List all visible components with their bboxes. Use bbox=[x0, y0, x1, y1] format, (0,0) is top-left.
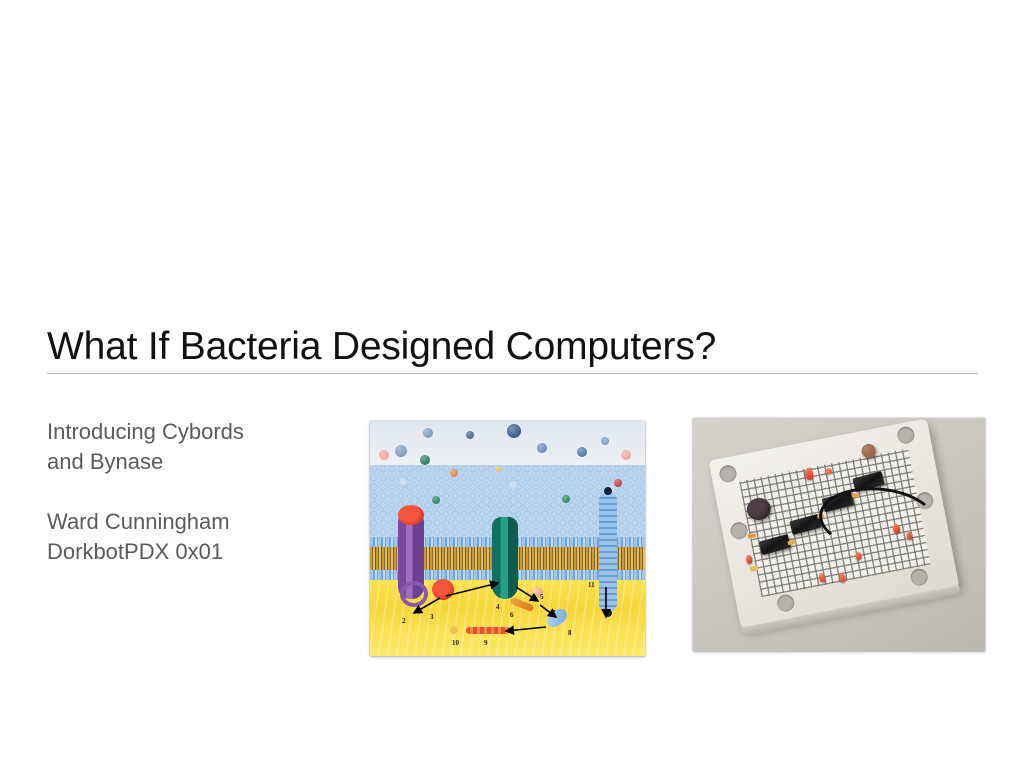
led bbox=[745, 554, 753, 564]
cell-membrane-illustration: 234567891011 bbox=[370, 421, 645, 656]
molecule-sphere bbox=[562, 495, 570, 503]
mounting-hole bbox=[909, 567, 929, 587]
molecule-sphere bbox=[420, 455, 430, 465]
callout-number: 2 bbox=[402, 617, 406, 625]
molecule-sphere bbox=[621, 450, 631, 460]
ion-channel-protein bbox=[599, 493, 617, 611]
callout-number: 7 bbox=[552, 609, 556, 617]
mounting-hole bbox=[776, 593, 796, 613]
molecule-sphere bbox=[432, 496, 440, 504]
molecule-sphere bbox=[537, 443, 547, 453]
small-molecule-dot bbox=[450, 626, 458, 634]
byline-author: Ward Cunningham bbox=[47, 509, 230, 534]
subtitle-paragraph: Introducing Cybords and Bynase bbox=[47, 417, 307, 477]
molecule-sphere bbox=[379, 450, 389, 460]
mounting-hole bbox=[718, 464, 738, 484]
callout-number: 10 bbox=[452, 639, 459, 647]
mounting-hole bbox=[729, 521, 749, 541]
callout-number: 5 bbox=[540, 593, 544, 601]
breadboard-body bbox=[709, 418, 960, 629]
molecule-sphere bbox=[450, 469, 458, 477]
molecule-sphere bbox=[466, 431, 474, 439]
subtitle-line-2: and Bynase bbox=[47, 449, 163, 474]
callout-number: 6 bbox=[510, 611, 514, 619]
callout-number: 3 bbox=[430, 613, 434, 621]
molecule-sphere bbox=[507, 424, 521, 438]
dna-strand bbox=[466, 627, 510, 634]
callout-number: 9 bbox=[484, 639, 488, 647]
subtitle-line-1: Introducing Cybords bbox=[47, 419, 244, 444]
molecule-sphere bbox=[614, 479, 622, 487]
receptor-protein-green bbox=[492, 517, 518, 599]
molecule-sphere bbox=[423, 428, 433, 438]
slide-body-text: Introducing Cybords and Bynase Ward Cunn… bbox=[47, 417, 307, 567]
ligand-red-blob bbox=[432, 579, 454, 600]
molecule-sphere bbox=[495, 466, 501, 472]
byline-event: DorkbotPDX 0x01 bbox=[47, 539, 223, 564]
byline-paragraph: Ward Cunningham DorkbotPDX 0x01 bbox=[47, 507, 307, 567]
mounting-hole bbox=[896, 425, 916, 445]
molecule-sphere bbox=[601, 437, 609, 445]
ligand-red-cap bbox=[398, 505, 424, 525]
callout-number: 8 bbox=[568, 629, 572, 637]
callout-number: 4 bbox=[496, 603, 500, 611]
breadboard-circuit-photo bbox=[693, 418, 985, 651]
molecule-sphere bbox=[577, 447, 587, 457]
molecule-sphere bbox=[395, 445, 407, 457]
slide-canvas: What If Bacteria Designed Computers? Int… bbox=[0, 0, 1024, 768]
callout-number: 11 bbox=[588, 581, 595, 589]
receptor-protein-purple bbox=[398, 513, 424, 599]
title-divider bbox=[47, 373, 978, 374]
page-title: What If Bacteria Designed Computers? bbox=[47, 325, 977, 369]
